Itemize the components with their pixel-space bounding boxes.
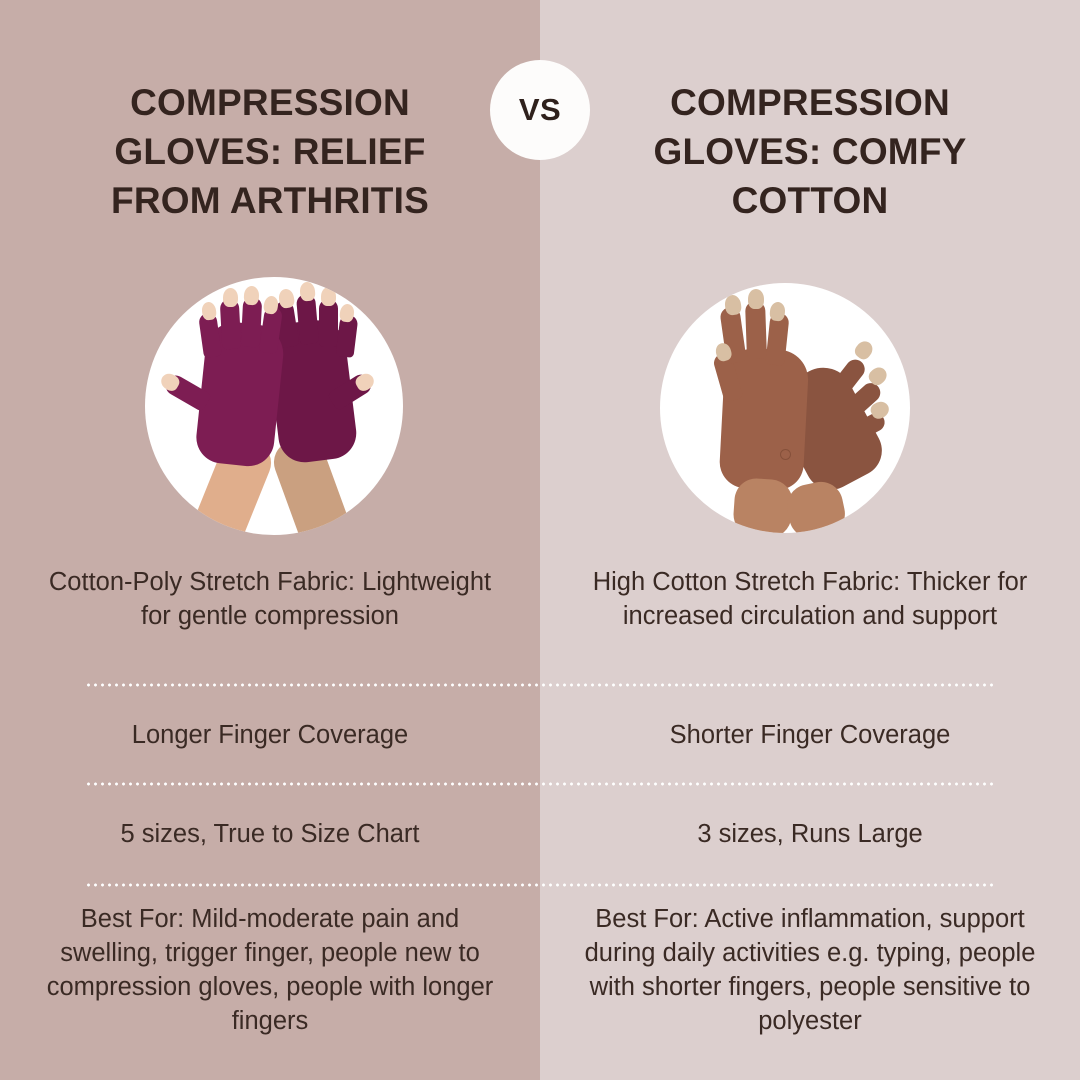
comparison-infographic: COMPRESSION GLOVES: RELIEF FROM ARTHRITI… [0,0,1080,1080]
left-feature-sizing: 5 sizes, True to Size Chart [40,818,500,852]
right-feature-best-for: Best For: Active inflammation, support d… [580,903,1040,1039]
right-product-title: COMPRESSION GLOVES: COMFY COTTON [610,79,1010,225]
row-divider-2 [85,782,995,786]
right-product-image [660,283,910,533]
brand-logo-icon [780,449,791,460]
versus-badge: VS [490,60,590,160]
brown-gloves-illustration [660,283,910,533]
row-divider-3 [85,883,995,887]
left-feature-fabric: Cotton-Poly Stretch Fabric: Lightweight … [40,566,500,634]
burgundy-gloves-illustration [145,277,403,535]
left-product-column: COMPRESSION GLOVES: RELIEF FROM ARTHRITI… [0,0,540,1080]
right-feature-coverage: Shorter Finger Coverage [580,719,1040,753]
versus-badge-label: VS [519,92,561,128]
left-product-image [145,277,403,535]
right-product-column: COMPRESSION GLOVES: COMFY COTTON [540,0,1080,1080]
left-product-title: COMPRESSION GLOVES: RELIEF FROM ARTHRITI… [55,79,485,225]
right-feature-sizing: 3 sizes, Runs Large [580,818,1040,852]
left-feature-best-for: Best For: Mild-moderate pain and swellin… [40,903,500,1039]
row-divider-1 [85,683,995,687]
left-feature-coverage: Longer Finger Coverage [40,719,500,753]
comparison-columns: COMPRESSION GLOVES: RELIEF FROM ARTHRITI… [0,0,1080,1080]
right-feature-fabric: High Cotton Stretch Fabric: Thicker for … [580,566,1040,634]
